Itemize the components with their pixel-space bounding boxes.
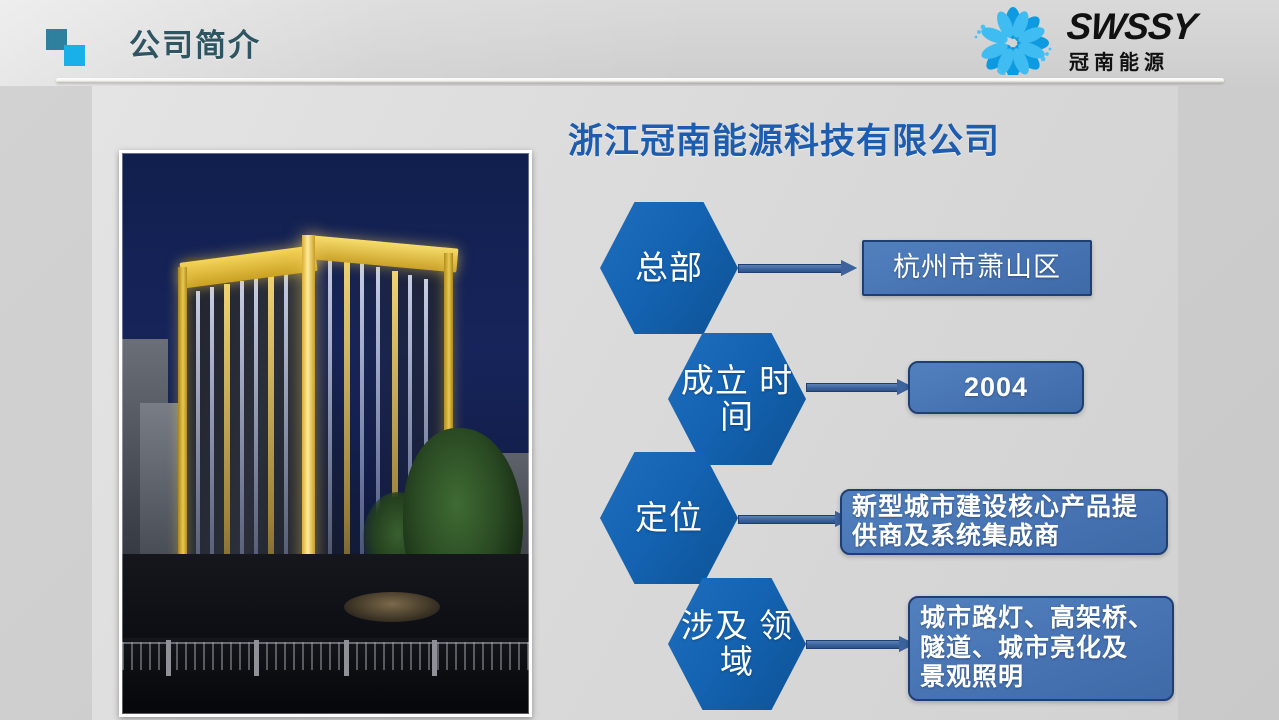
arrow-right-icon xyxy=(738,260,858,276)
hex-label: 总部 xyxy=(635,250,703,286)
plaza-ground xyxy=(122,554,529,638)
office-building-night-photo: 绿创中心 LUCHUANG CENTER xyxy=(119,150,532,717)
hex-label: 定位 xyxy=(635,500,703,536)
value-box-fields[interactable]: 城市路灯、高架桥、 隧道、城市亮化及 景观照明 xyxy=(908,596,1174,701)
arrow-shaft xyxy=(738,515,836,524)
company-logo: SWSSY 冠南能源 xyxy=(965,5,1215,77)
value-box-text: 城市路灯、高架桥、 隧道、城市亮化及 景观照明 xyxy=(910,604,1164,693)
logo-subtitle: 冠南能源 xyxy=(1069,46,1169,75)
value-box-founded[interactable]: 2004 xyxy=(908,361,1084,414)
hex-label: 涉及 领域 xyxy=(668,608,806,679)
landscape-planter xyxy=(344,592,440,622)
hex-label: 成立 时间 xyxy=(668,363,806,434)
slide-header: 公司简介 xyxy=(0,0,1279,86)
value-box-text: 杭州市萧山区 xyxy=(883,252,1071,284)
decorative-square-light xyxy=(64,45,85,66)
slide: 公司简介 xyxy=(0,0,1279,720)
company-name-heading: 浙江冠南能源科技有限公司 xyxy=(568,113,1000,164)
logo-text-group: SWSSY 冠南能源 xyxy=(1067,6,1215,76)
arrow-right-icon xyxy=(806,636,916,652)
arrow-right-icon xyxy=(738,511,852,527)
value-box-positioning[interactable]: 新型城市建设核心产品提 供商及系统集成商 xyxy=(840,489,1168,555)
arrow-head xyxy=(841,260,857,276)
water-droplet-petals-logo-icon xyxy=(965,7,1061,75)
logo-wordmark: SWSSY xyxy=(1065,6,1198,48)
header-divider xyxy=(56,78,1224,83)
page-title: 公司简介 xyxy=(129,20,261,65)
arrow-shaft xyxy=(806,383,898,392)
value-box-text: 新型城市建设核心产品提 供商及系统集成商 xyxy=(842,493,1148,552)
arrow-shaft xyxy=(738,264,842,273)
value-box-headquarters[interactable]: 杭州市萧山区 xyxy=(862,240,1092,296)
street-railing xyxy=(122,642,529,670)
value-box-text: 2004 xyxy=(954,372,1038,404)
arrow-shaft xyxy=(806,640,900,649)
arrow-right-icon xyxy=(806,379,914,395)
photo-canvas: 绿创中心 LUCHUANG CENTER xyxy=(122,153,529,714)
